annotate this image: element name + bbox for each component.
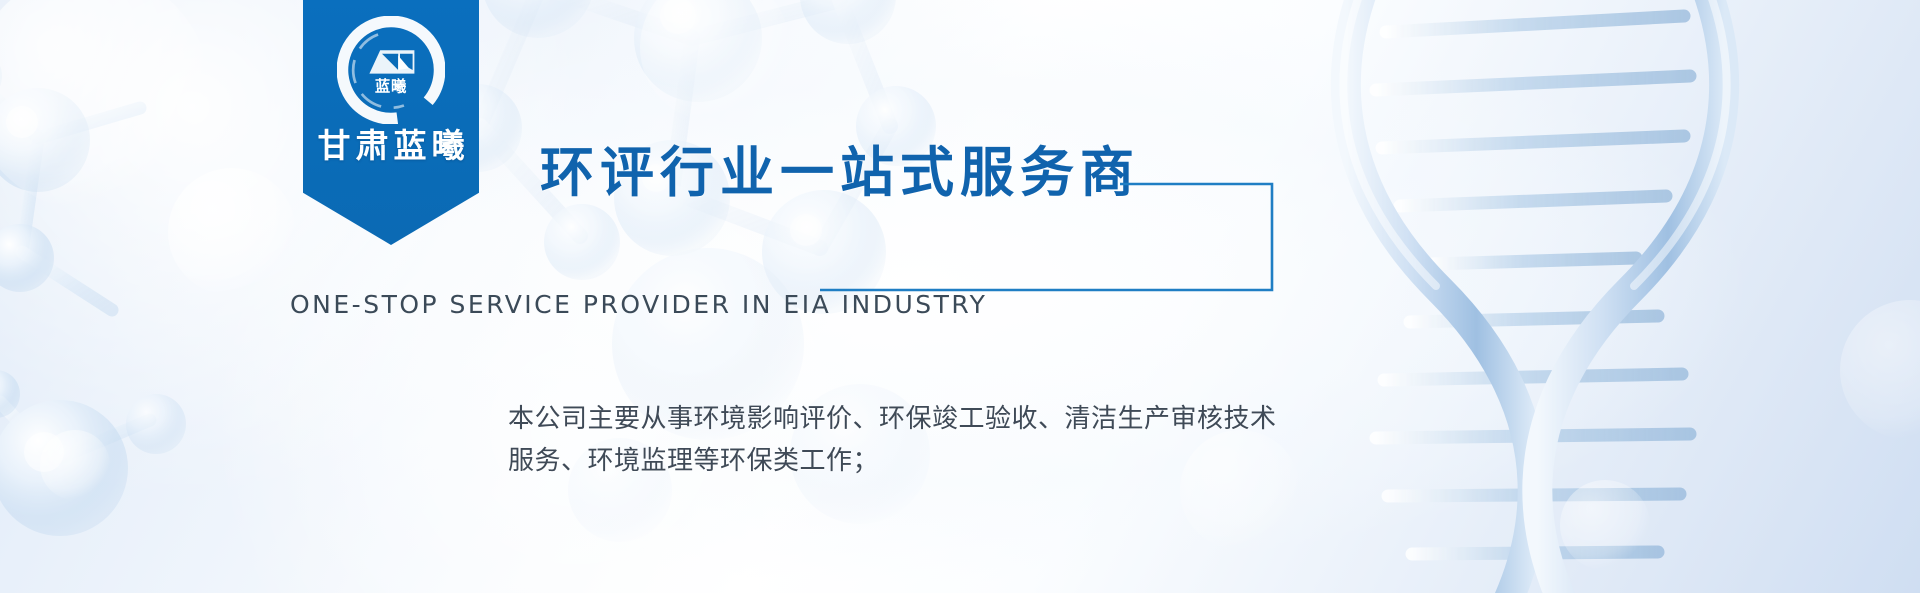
- accent-bracket-line: [820, 168, 1340, 298]
- bokeh-light: [0, 0, 210, 210]
- svg-text:蓝曦: 蓝曦: [375, 78, 407, 96]
- bokeh-light: [40, 430, 110, 500]
- company-logo-icon: 蓝曦: [337, 16, 445, 124]
- bokeh-light: [168, 168, 296, 296]
- molecule-decoration-left: [0, 0, 280, 590]
- body-paragraph: 本公司主要从事环境影响评价、环保竣工验收、清洁生产审核技术 服务、环境监理等环保…: [508, 398, 1277, 482]
- bokeh-light: [640, 0, 790, 122]
- company-badge: 蓝曦 甘肃蓝曦: [303, 0, 479, 245]
- promotional-banner: 蓝曦 甘肃蓝曦 环评行业一站式服务商 ONE-STOP SERVICE PROV…: [0, 0, 1920, 593]
- company-short-name: 甘肃蓝曦: [303, 119, 479, 167]
- bokeh-light: [1840, 300, 1920, 440]
- bokeh-light: [1560, 480, 1650, 570]
